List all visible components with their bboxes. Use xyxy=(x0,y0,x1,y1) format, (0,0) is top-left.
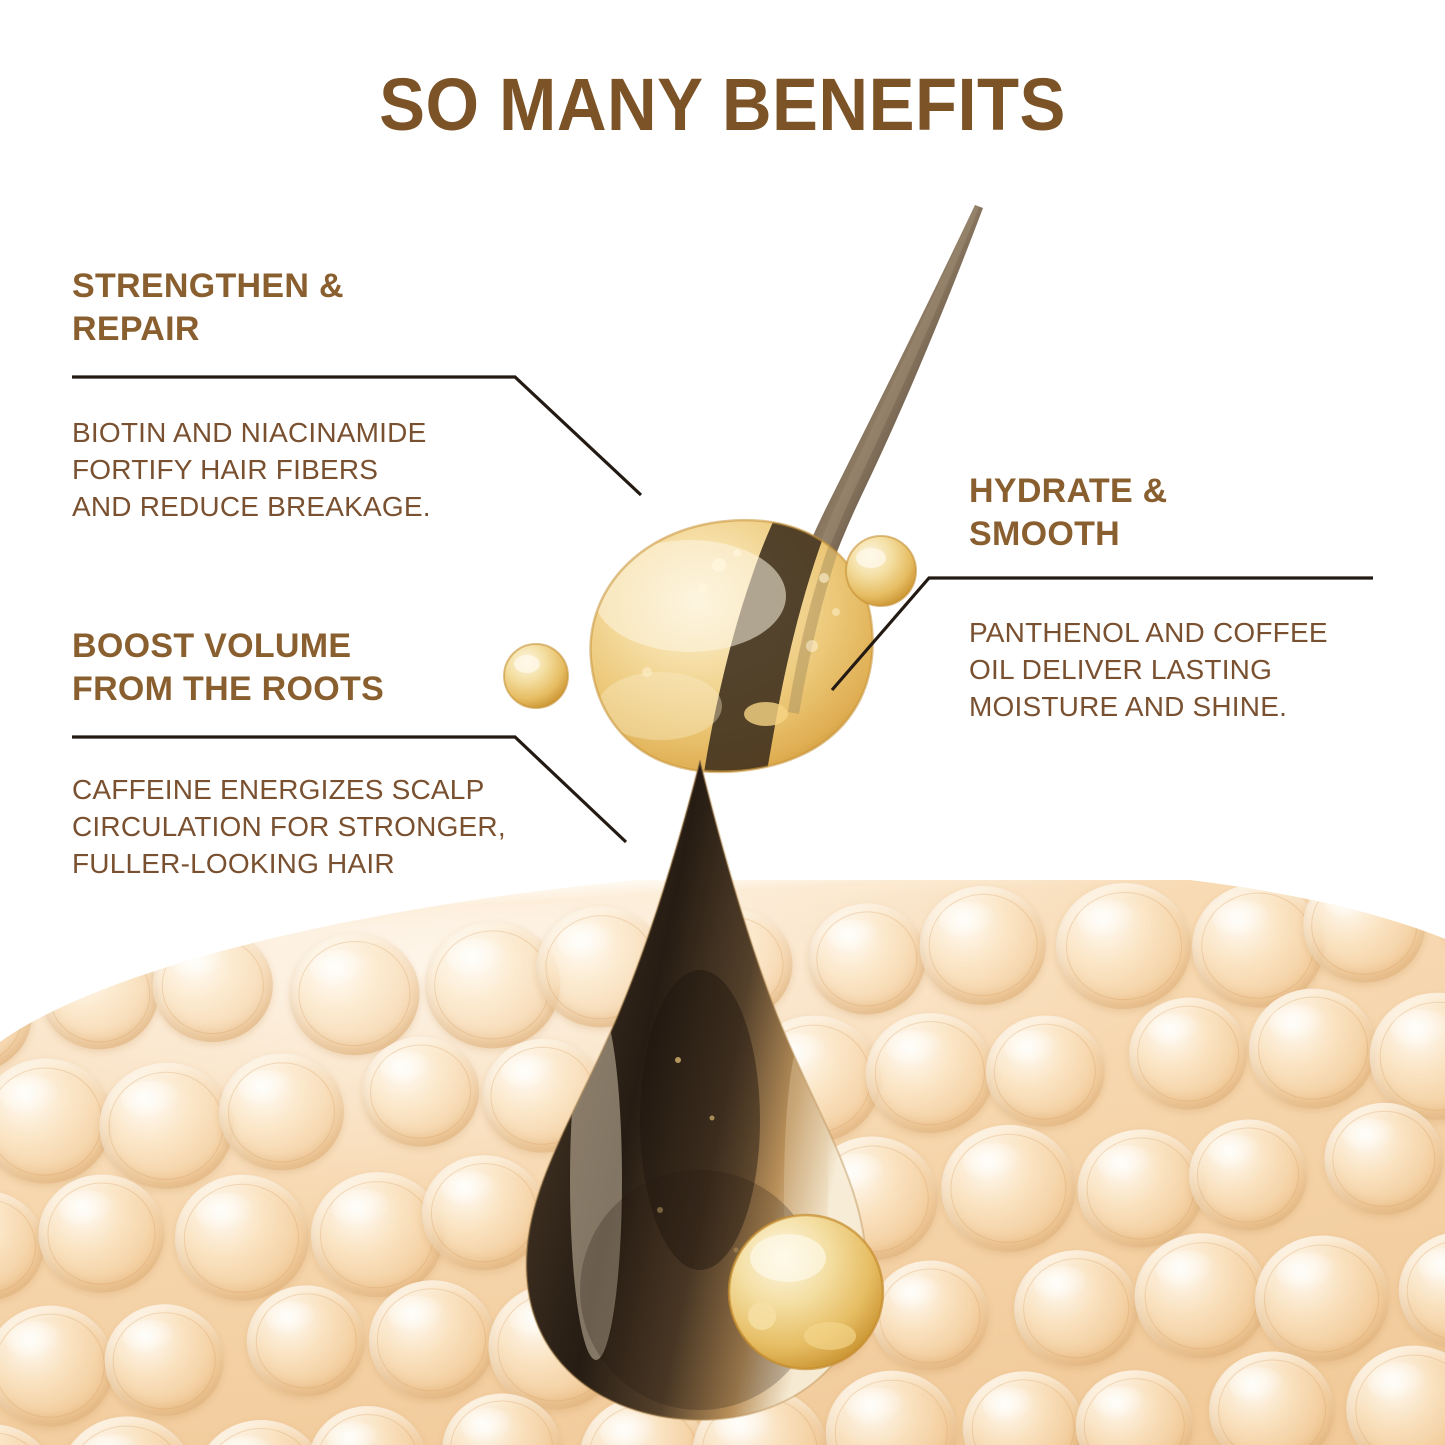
bubble-bed-surface xyxy=(0,880,1445,1445)
oil-bead-left xyxy=(504,644,568,708)
bubble xyxy=(0,952,35,1077)
callout-body-strengthen-wrap: BIOTIN AND NIACINAMIDE FORTIFY HAIR FIBE… xyxy=(72,415,542,526)
bubble xyxy=(599,1032,737,1162)
bubble xyxy=(1053,880,1194,1013)
bubble xyxy=(748,1253,876,1374)
callout-title-volume: BOOST VOLUME FROM THE ROOTS xyxy=(72,625,384,710)
page-title: SO MANY BENEFITS xyxy=(51,62,1395,147)
bubble xyxy=(1252,1232,1393,1365)
hair-strand xyxy=(775,205,983,655)
hair-strand-highlight xyxy=(789,205,979,652)
bubble xyxy=(823,1367,960,1445)
bubble xyxy=(0,1302,118,1430)
bubble xyxy=(479,1036,606,1156)
bubble xyxy=(244,1282,368,1399)
bubble xyxy=(38,936,162,1053)
bubble xyxy=(1436,880,1445,971)
bubble xyxy=(1072,1367,1195,1445)
bubble xyxy=(1126,995,1251,1113)
bubble xyxy=(1395,1228,1445,1352)
callout-boost-volume: BOOST VOLUME FROM THE ROOTS xyxy=(72,625,384,710)
hair-through-drop xyxy=(700,490,838,800)
bubble xyxy=(917,882,1050,1008)
bubble xyxy=(101,1301,226,1419)
bubble xyxy=(193,1416,327,1445)
bubble xyxy=(868,1258,991,1374)
bubble xyxy=(670,905,796,1024)
bubble xyxy=(171,1172,312,1305)
callout-body-hydrate: PANTHENOL AND COFFEE OIL DELIVER LASTING… xyxy=(969,615,1389,726)
bubble xyxy=(1206,1348,1337,1445)
callout-body-strengthen: BIOTIN AND NIACINAMIDE FORTIFY HAIR FIBE… xyxy=(72,415,542,526)
bubble xyxy=(628,1264,766,1395)
bubble xyxy=(554,1147,677,1263)
bubble xyxy=(305,1403,429,1445)
callout-title-strengthen: STRENGTHEN & REPAIR xyxy=(72,265,344,350)
bubble xyxy=(216,1050,347,1174)
bubble xyxy=(0,1055,115,1188)
bubble xyxy=(1132,1230,1272,1362)
bubble xyxy=(36,1171,168,1296)
bubble xyxy=(1300,880,1428,985)
bubble xyxy=(805,900,929,1017)
infographic-canvas: SO MANY BENEFITS STRENGTHEN & REPAIR BIO… xyxy=(0,0,1445,1445)
bubble xyxy=(742,1012,884,1146)
bubble xyxy=(983,1012,1108,1130)
callout-strengthen-repair: STRENGTHEN & REPAIR xyxy=(72,265,344,350)
callout-hydrate-smooth: HYDRATE & SMOOTH xyxy=(969,470,1168,555)
bubble xyxy=(96,1060,236,1193)
bubble xyxy=(1186,1116,1310,1233)
bubble xyxy=(1343,1342,1445,1445)
bubble xyxy=(960,1368,1087,1445)
bubble xyxy=(862,1010,996,1137)
callout-body-hydrate-wrap: PANTHENOL AND COFFEE OIL DELIVER LASTING… xyxy=(969,615,1389,726)
bubble xyxy=(1074,1126,1207,1252)
serum-drop-blob xyxy=(590,490,876,800)
callout-title-hydrate: HYDRATE & SMOOTH xyxy=(969,470,1168,555)
callout-body-volume-wrap: CAFFEINE ENERGIZES SCALP CIRCULATION FOR… xyxy=(72,772,582,883)
bubble xyxy=(689,1385,831,1445)
bubble xyxy=(691,1149,819,1270)
callout-body-volume: CAFFEINE ENERGIZES SCALP CIRCULATION FOR… xyxy=(72,772,582,883)
oil-bead-right xyxy=(846,536,916,606)
bubble xyxy=(938,1121,1079,1255)
bubble-bed xyxy=(0,880,1445,1445)
bubble xyxy=(150,926,276,1045)
bubble xyxy=(803,1133,942,1264)
bubble xyxy=(577,1393,712,1445)
bubble xyxy=(1011,1247,1141,1370)
